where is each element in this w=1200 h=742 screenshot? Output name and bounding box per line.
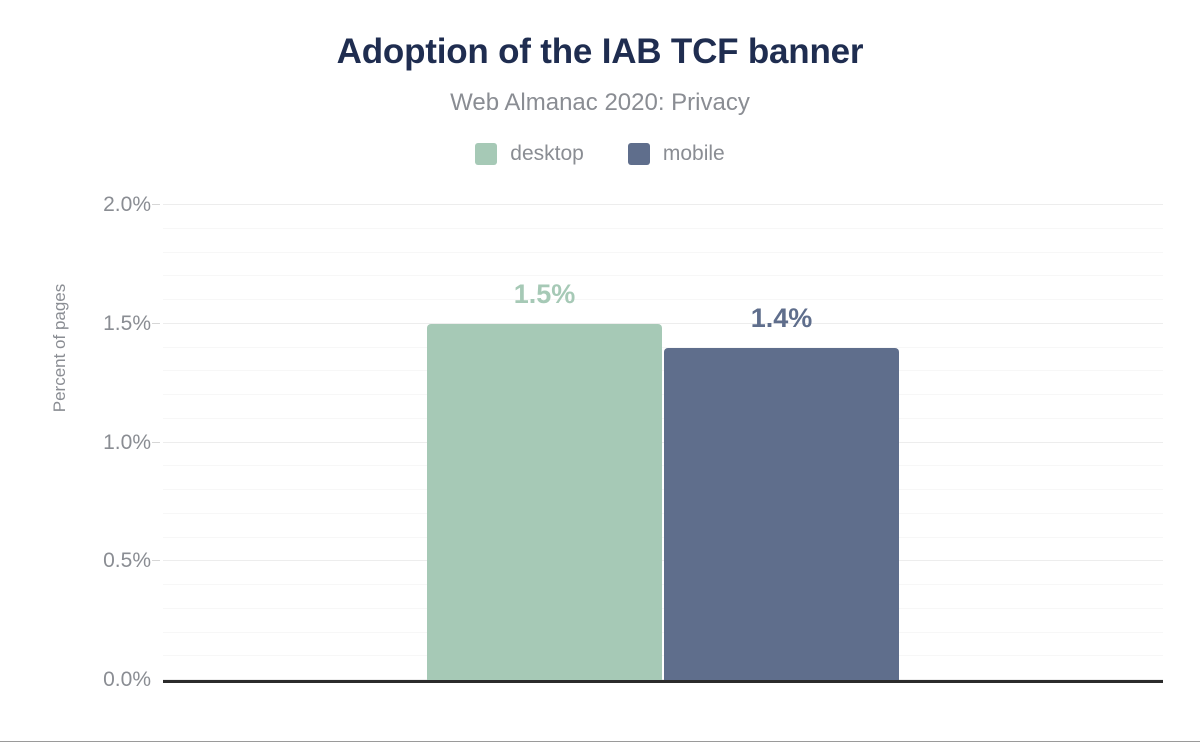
gridline-minor (163, 347, 1163, 348)
gridline-minor (163, 299, 1163, 300)
gridline-minor (163, 228, 1163, 229)
gridline-minor (163, 252, 1163, 253)
x-axis-line (163, 680, 1163, 683)
bar-value-label-desktop: 1.5% (427, 279, 662, 309)
chart-title: Adoption of the IAB TCF banner (0, 30, 1200, 74)
gridline-minor (163, 537, 1163, 538)
bar-value-label-mobile: 1.4% (664, 303, 899, 333)
y-axis-tick-label: 0.5% (31, 550, 151, 571)
gridline-minor (163, 608, 1163, 609)
bar-desktop[interactable] (427, 324, 662, 680)
gridline-minor (163, 394, 1163, 395)
legend-label-mobile: mobile (663, 142, 725, 166)
y-axis-tick-label: 1.0% (31, 432, 151, 453)
y-axis-tick (152, 442, 160, 443)
y-axis-tick-label: 0.0% (31, 669, 151, 690)
legend-label-desktop: desktop (510, 142, 584, 166)
bar-mobile[interactable] (664, 348, 899, 681)
gridline-minor (163, 513, 1163, 514)
legend-item-desktop[interactable]: desktop (475, 142, 584, 166)
y-axis-tick-label: 2.0% (31, 194, 151, 215)
gridline-major (163, 204, 1163, 205)
gridline-minor (163, 275, 1163, 276)
legend-swatch-desktop (475, 143, 497, 165)
y-axis-tick-label: 1.5% (31, 313, 151, 334)
chart-legend: desktop mobile (0, 142, 1200, 166)
gridline-minor (163, 632, 1163, 633)
gridline-minor (163, 465, 1163, 466)
y-axis-tick (152, 323, 160, 324)
bar-chart: Adoption of the IAB TCF banner Web Alman… (0, 0, 1200, 742)
legend-swatch-mobile (628, 143, 650, 165)
chart-subtitle: Web Almanac 2020: Privacy (0, 88, 1200, 118)
y-axis-tick (152, 204, 160, 205)
gridline-major (163, 442, 1163, 443)
gridline-minor (163, 655, 1163, 656)
gridline-major (163, 323, 1163, 324)
gridline-minor (163, 584, 1163, 585)
gridline-minor (163, 370, 1163, 371)
y-axis-tick (152, 560, 160, 561)
gridline-minor (163, 489, 1163, 490)
y-axis-title: Percent of pages (50, 268, 70, 428)
gridline-major (163, 560, 1163, 561)
plot-area: 1.5%1.4% (163, 205, 1163, 680)
legend-item-mobile[interactable]: mobile (628, 142, 725, 166)
gridline-minor (163, 418, 1163, 419)
